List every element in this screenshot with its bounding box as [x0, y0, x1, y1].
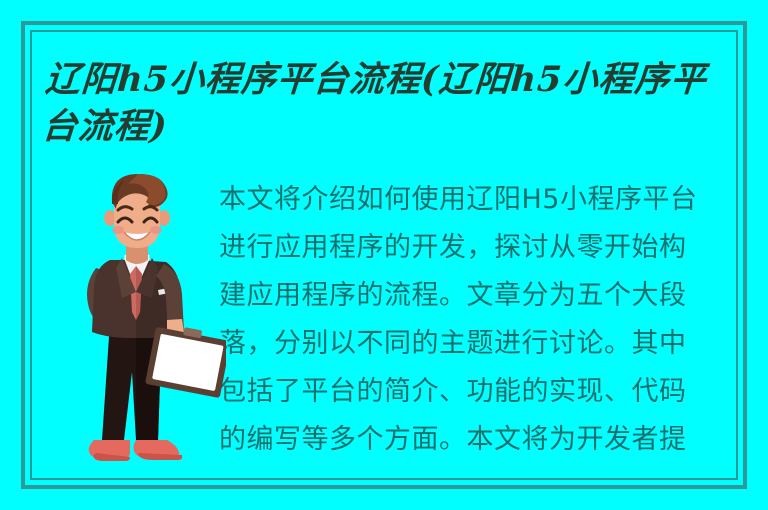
businessman-illustration [66, 172, 226, 492]
body-line: 进行应用程序的开发，探讨从零开始构 [219, 224, 724, 272]
body-line: 本文将介绍如何使用辽阳H5小程序平台 [219, 176, 724, 224]
shoes-shape [89, 440, 182, 461]
body-line: 包括了平台的简介、功能的实现、代码 [219, 368, 724, 416]
page-title-line-2: 台流程) [41, 106, 169, 147]
poster-canvas: 辽阳h5小程序平台流程(辽阳h5小程序平 台流程) 本文将介绍如何使用辽阳H5小… [0, 0, 768, 510]
page-title: 辽阳h5小程序平台流程(辽阳h5小程序平 台流程) [40, 56, 737, 150]
body-line: 建应用程序的流程。文章分为五个大段 [219, 272, 724, 320]
body-line: 的编写等多个方面。本文将为开发者提 [219, 416, 724, 464]
article-summary-text: 本文将介绍如何使用辽阳H5小程序平台 进行应用程序的开发，探讨从零开始构 建应用… [219, 176, 724, 464]
page-title-line-1: 辽阳h5小程序平台流程(辽阳h5小程序平 [44, 59, 708, 100]
body-line: 落，分别以不同的主题进行讨论。其中 [219, 320, 724, 368]
head-shape [104, 174, 170, 248]
